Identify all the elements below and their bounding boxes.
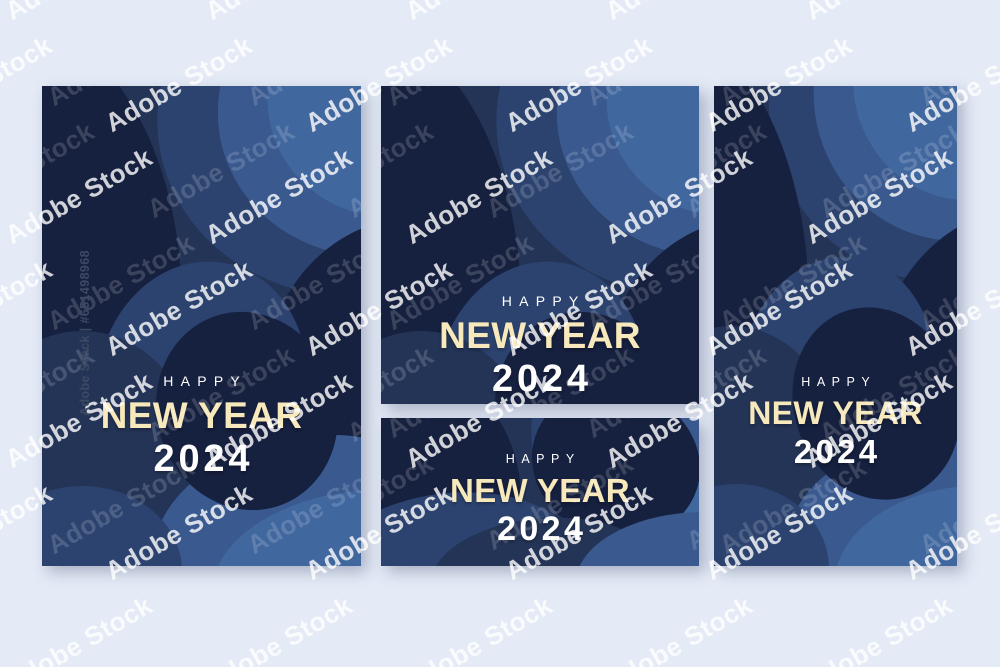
watermark-text: Adobe Stock	[800, 0, 958, 27]
poster-artwork-right	[714, 86, 957, 566]
poster-banner-bottom[interactable]: Adobe StockAdobe StockAdobe StockAdobe S…	[381, 418, 699, 566]
watermark-text: Adobe Stock	[400, 0, 558, 27]
new-year-text: NEW YEAR	[381, 317, 699, 354]
year-text: 2024	[714, 435, 957, 468]
watermark-text: Adobe Stock	[200, 0, 358, 27]
watermark-text: Adobe Stock	[200, 590, 358, 667]
happy-text: HAPPY	[381, 453, 699, 466]
year-text: 2024	[381, 512, 699, 546]
poster-text-block-banner: HAPPY NEW YEAR 2024	[381, 453, 699, 546]
watermark-text: Adobe Stock	[0, 590, 158, 667]
new-year-text: NEW YEAR	[714, 397, 957, 429]
year-text: 2024	[42, 440, 361, 478]
watermark-text: Adobe Stock	[0, 0, 158, 27]
happy-text: HAPPY	[381, 294, 699, 308]
watermark-text: Adobe Stock	[800, 590, 958, 667]
stock-id-label: Adobe Stock | #651498968	[78, 250, 92, 416]
poster-text-block-right: HAPPY NEW YEAR 2024	[714, 376, 957, 468]
poster-square-top[interactable]: Adobe StockAdobe StockAdobe StockAdobe S…	[381, 86, 699, 404]
new-year-text: NEW YEAR	[381, 474, 699, 507]
watermark-text: Adobe Stock	[400, 590, 558, 667]
watermark-text: Adobe Stock	[600, 590, 758, 667]
artboard: Adobe StockAdobe StockAdobe StockAdobe S…	[0, 0, 1000, 667]
poster-text-block-square: HAPPY NEW YEAR 2024	[381, 294, 699, 398]
poster-portrait-right[interactable]: Adobe StockAdobe StockAdobe StockAdobe S…	[714, 86, 957, 566]
year-text: 2024	[381, 360, 699, 398]
watermark-text: Adobe Stock	[600, 0, 758, 27]
happy-text: HAPPY	[714, 376, 957, 389]
